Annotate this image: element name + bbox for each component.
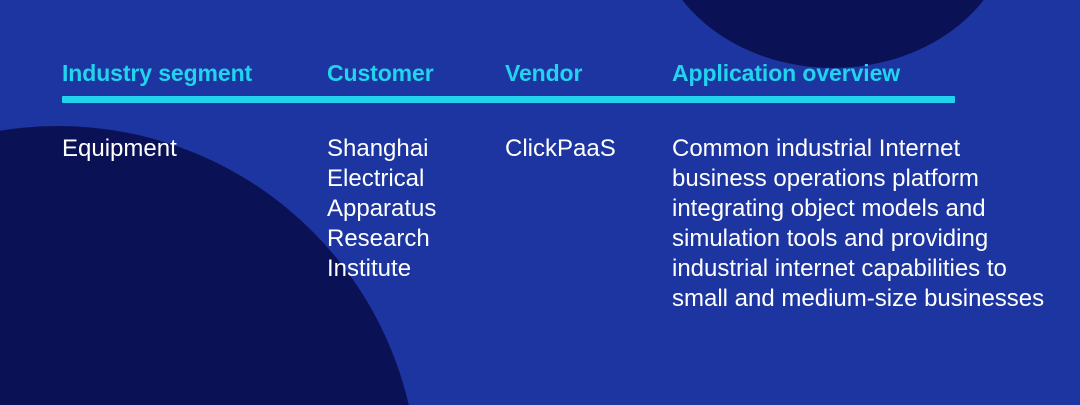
column-header-label: Customer: [327, 58, 502, 88]
column-header-customer: Customer: [327, 58, 502, 88]
cell-customer: Shanghai Electrical Apparatus Research I…: [327, 134, 502, 284]
column-header-label: Application overview: [672, 58, 1072, 88]
cell-text: ClickPaaS: [505, 134, 665, 164]
cell-text: Equipment: [62, 134, 312, 164]
cell-application-overview: Common industrial Internet business oper…: [672, 134, 1072, 314]
cell-industry-segment: Equipment: [62, 134, 324, 164]
column-header-industry-segment: Industry segment: [62, 58, 324, 88]
slide-canvas: Industry segment Customer Vendor Applica…: [0, 0, 1080, 405]
cell-text: Common industrial Internet business oper…: [672, 134, 1057, 314]
column-header-label: Industry segment: [62, 58, 324, 88]
column-header-application-overview: Application overview: [672, 58, 1072, 88]
column-header-vendor: Vendor: [505, 58, 670, 88]
table-header-row: Industry segment Customer Vendor Applica…: [62, 58, 1080, 92]
cell-text: Shanghai Electrical Apparatus Research I…: [327, 134, 487, 284]
comparison-table: Industry segment Customer Vendor Applica…: [0, 0, 1080, 405]
header-underline-rule: [62, 96, 955, 103]
column-header-label: Vendor: [505, 58, 670, 88]
cell-vendor: ClickPaaS: [505, 134, 670, 164]
